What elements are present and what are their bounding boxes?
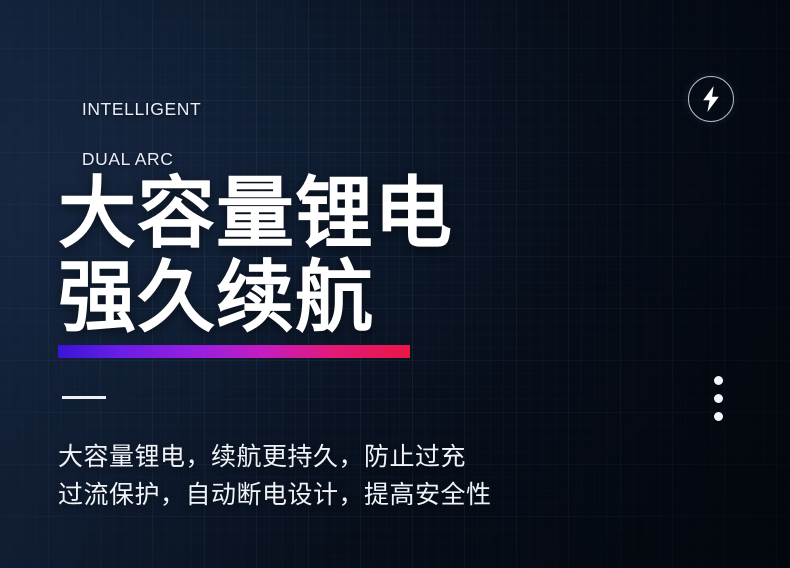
kebab-dot-1 (714, 376, 723, 385)
lightning-bolt-icon[interactable] (688, 76, 734, 122)
kebab-menu-icon[interactable] (714, 376, 723, 421)
body-line-1: 大容量锂电，续航更持久，防止过充 (58, 438, 492, 476)
body-description: 大容量锂电，续航更持久，防止过充 过流保护，自动断电设计，提高安全性 (58, 438, 492, 514)
headline-line-2: 强久续航 (58, 256, 453, 340)
kebab-dot-2 (714, 394, 723, 403)
eyebrow-line-1: INTELLIGENT (82, 99, 201, 119)
kebab-dot-3 (714, 412, 723, 421)
section-divider (62, 396, 106, 399)
eyebrow-line-2: DUAL ARC (82, 149, 174, 169)
page-title: 大容量锂电 强久续航 (58, 172, 453, 340)
body-line-2: 过流保护，自动断电设计，提高安全性 (58, 476, 492, 514)
headline-line-1: 大容量锂电 (58, 172, 453, 256)
accent-underline-bar (58, 345, 410, 358)
promo-banner: INTELLIGENT DUAL ARC 大容量锂电 强久续航 大容量锂电，续航… (0, 0, 790, 568)
